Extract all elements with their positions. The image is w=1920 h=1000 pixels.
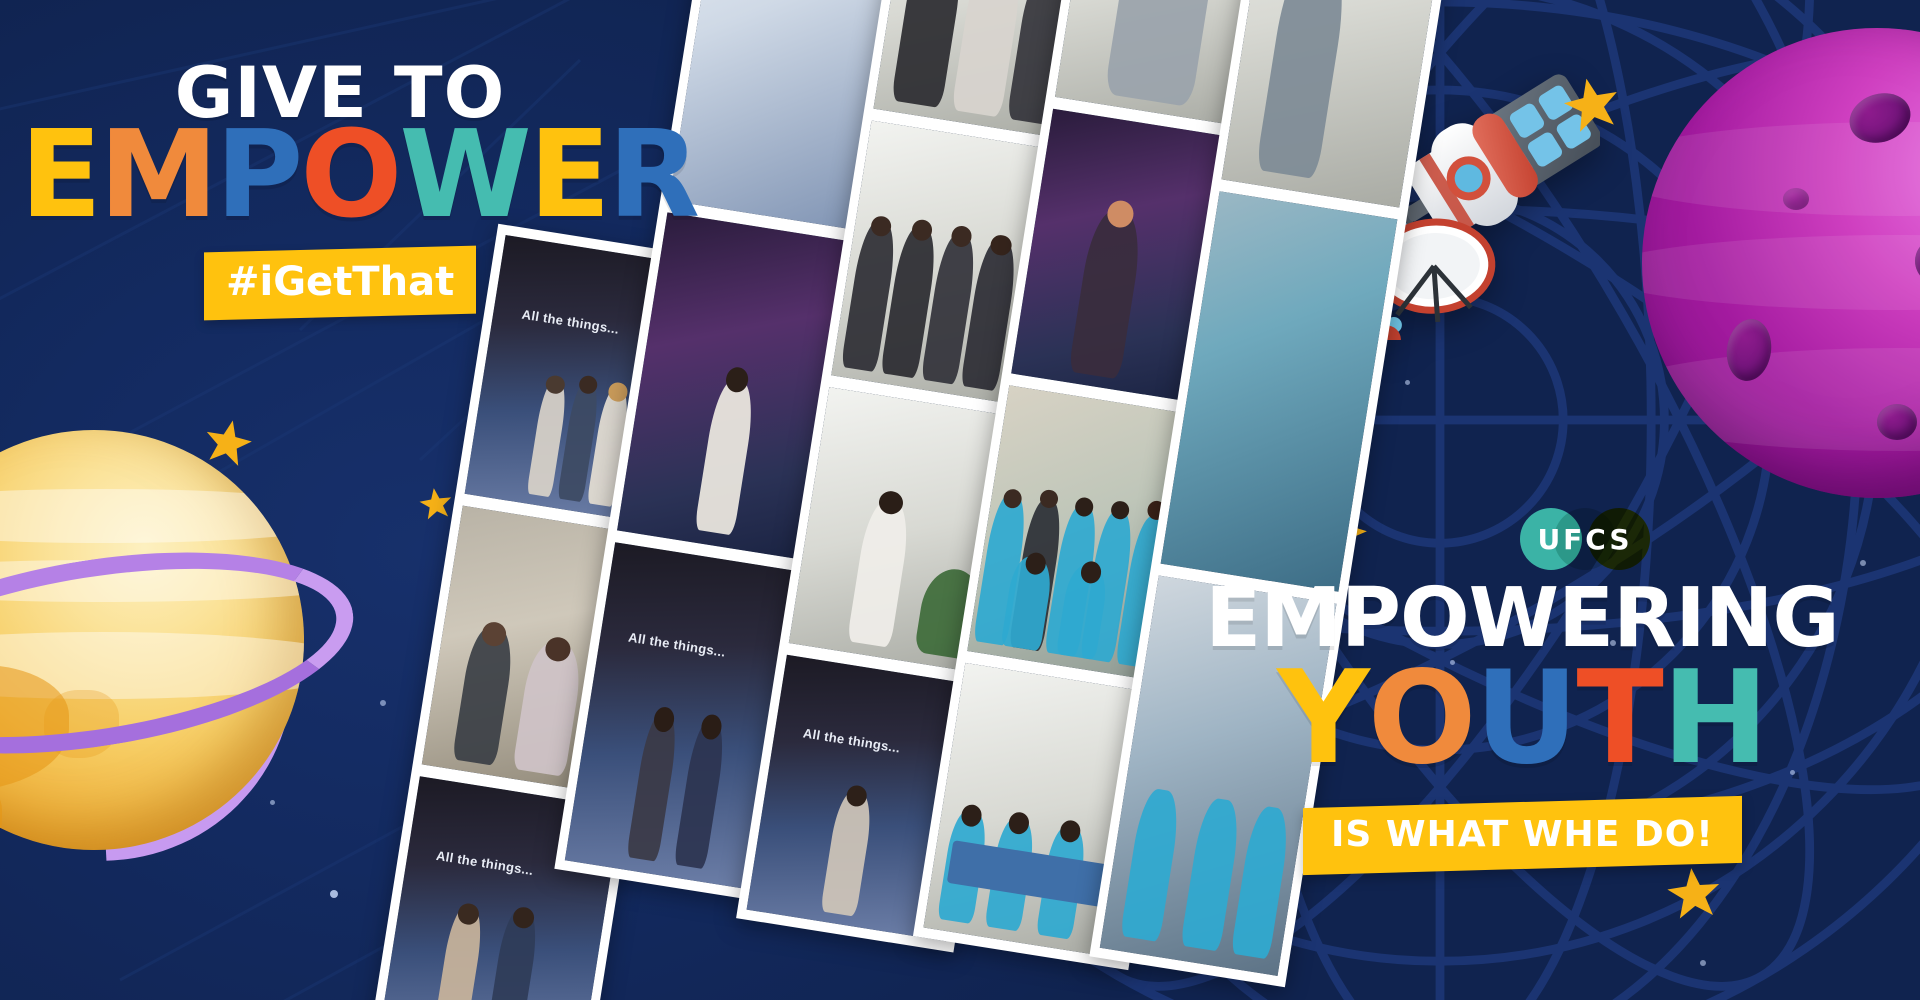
star-bottom-right-icon [1665,865,1722,922]
star-dot [380,700,386,706]
star-dot [1700,960,1706,966]
poster-canvas: GIVE TO EMPOWER #iGetThat UFCS EMPOWERIN… [0,0,1920,1000]
star-dot [1405,380,1410,385]
give-to-kicker: GIVE TO [14,60,667,127]
empower-letter-m: M [99,121,215,231]
youth-letter-o: O [1368,660,1475,778]
ufcs-logo: UFCS [1520,508,1650,570]
hashtag-label: #iGetThat [226,259,454,305]
empower-letter-p: P [215,121,300,231]
empower-wordmark: EMPOWER [20,121,660,231]
youth-letter-u: U [1475,660,1577,778]
planet-purple-icon [1642,28,1920,498]
right-headline-block: EMPOWERING YOUTH IS WHAT WHE DO! [1172,580,1872,869]
empower-letter-e1: E [20,121,99,231]
empower-letter-w: W [399,121,528,231]
logo-text: UFCS [1520,508,1650,570]
empower-letter-r: R [608,121,697,231]
star-dot [1860,560,1866,566]
tagline-label: IS WHAT WHE DO! [1331,814,1714,855]
youth-letter-h: H [1662,660,1767,778]
tagline-banner: IS WHAT WHE DO! [1303,796,1742,875]
planet-ringed-yellow-icon [0,430,354,900]
youth-letter-t: T [1577,660,1662,778]
hashtag-banner: #iGetThat [204,246,476,321]
empower-letter-o: O [300,121,399,231]
left-headline-block: GIVE TO EMPOWER #iGetThat [20,60,660,317]
empower-letter-e2: E [529,121,608,231]
youth-wordmark: YOUTH [1172,660,1872,778]
star-left-low-icon [418,486,454,522]
youth-letter-y: Y [1277,660,1368,778]
